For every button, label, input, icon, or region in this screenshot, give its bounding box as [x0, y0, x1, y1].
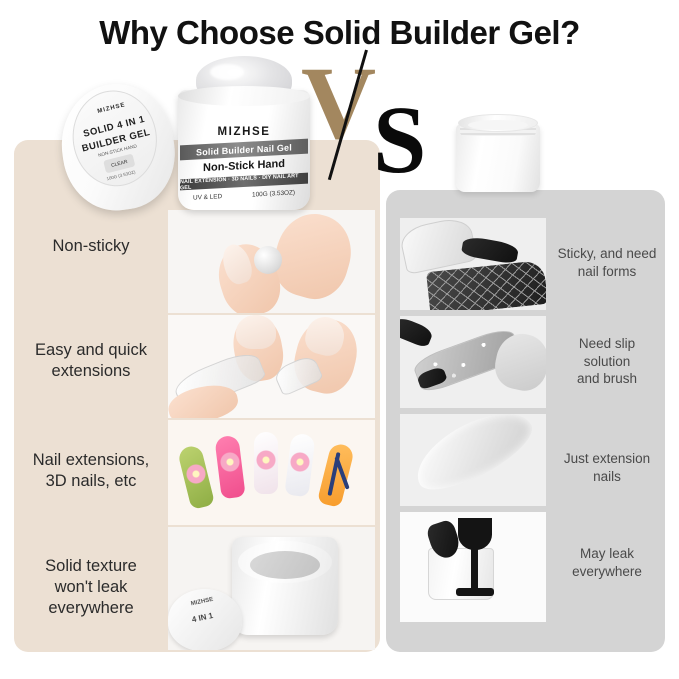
photo-gel-ball-in-fingers	[168, 210, 375, 313]
competitor-jar-opening	[468, 120, 528, 130]
left-label-nail-extensions-3d: Nail extensions, 3D nails, etc	[14, 450, 168, 492]
left-photo-column: MIZHSE 4 IN 1	[168, 210, 375, 650]
competitor-unbranded-jar	[456, 100, 540, 196]
right-label-slip-solution: Need slip solution and brush	[548, 335, 666, 388]
jar-rim	[178, 86, 310, 106]
right-label-sticky-nail-forms: Sticky, and need nail forms	[548, 245, 666, 280]
lid-swatch-label: CLEAR	[110, 159, 128, 169]
versus-s-letter: S	[373, 92, 426, 188]
photo-open-jar-solid-texture: MIZHSE 4 IN 1	[168, 527, 375, 650]
left-label-solid-texture: Solid texture won't leak everywhere	[14, 556, 168, 619]
right-label-may-leak: May leak everywhere	[548, 545, 666, 580]
mizhse-product-jar: MIZHSE Solid Builder Nail Gel Non-Stick …	[150, 52, 318, 217]
photo-stiletto-extension-nail	[400, 414, 546, 506]
right-photo-column	[400, 218, 546, 636]
left-label-easy-extensions: Easy and quick extensions	[14, 340, 168, 382]
right-label-just-extension-nails: Just extension nails	[548, 450, 666, 485]
left-label-non-sticky: Non-sticky	[14, 236, 168, 257]
right-label-column: Sticky, and need nail forms Need slip so…	[548, 190, 666, 652]
photo-clear-extension-form	[168, 315, 375, 418]
jar-brand-name: MIZHSE	[178, 126, 310, 138]
left-label-column: Non-sticky Easy and quick extensions Nai…	[14, 140, 168, 652]
photo-gel-bottle-on-nail-form	[400, 218, 546, 310]
photo-3d-nail-art-tips	[168, 420, 375, 525]
photo-glitter-gel-on-brush	[400, 316, 546, 408]
product-comparison-graphic: Why Choose Solid Builder Gel?	[0, 0, 679, 679]
photo-jar-with-brush-leaking	[400, 512, 546, 622]
versus-graphic: V S	[297, 50, 437, 185]
